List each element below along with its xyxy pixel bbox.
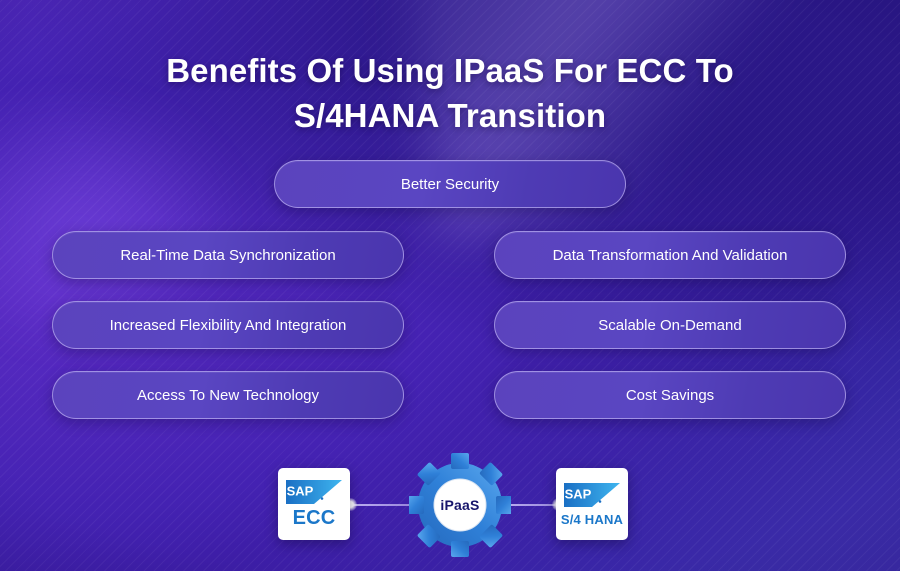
- sap-s4hana-card: SAP S/4 HANA: [556, 468, 628, 540]
- benefit-pill-access-to-new-technology[interactable]: Access To New Technology: [52, 371, 404, 419]
- integration-flow-diagram: SAP ECC: [0, 440, 900, 571]
- sap-logo-icon: SAP: [286, 480, 342, 504]
- benefit-pill-real-time-data-synchronization[interactable]: Real-Time Data Synchronization: [52, 231, 404, 279]
- page-title-line-2: S/4HANA Transition: [0, 93, 900, 138]
- svg-text:SAP: SAP: [565, 486, 592, 501]
- benefit-pill-data-transformation-and-validation[interactable]: Data Transformation And Validation: [494, 231, 846, 279]
- page-title-line-1: Benefits Of Using IPaaS For ECC To: [0, 48, 900, 93]
- page-title: Benefits Of Using IPaaS For ECC To S/4HA…: [0, 48, 900, 138]
- ipaas-label: iPaaS: [409, 497, 511, 513]
- ipaas-gear: iPaaS: [409, 450, 511, 560]
- sap-logo-icon: SAP: [564, 483, 620, 507]
- benefit-pill-cost-savings[interactable]: Cost Savings: [494, 371, 846, 419]
- benefit-pill-scalable-on-demand[interactable]: Scalable On-Demand: [494, 301, 846, 349]
- benefit-pill-increased-flexibility-and-integration[interactable]: Increased Flexibility And Integration: [52, 301, 404, 349]
- sap-ecc-label: ECC: [293, 508, 336, 528]
- sap-ecc-card: SAP ECC: [278, 468, 350, 540]
- infographic-content: Benefits Of Using IPaaS For ECC To S/4HA…: [0, 0, 900, 571]
- sap-s4hana-label: S/4 HANA: [561, 513, 623, 526]
- benefit-pill-better-security[interactable]: Better Security: [274, 160, 626, 208]
- svg-text:SAP: SAP: [287, 484, 314, 499]
